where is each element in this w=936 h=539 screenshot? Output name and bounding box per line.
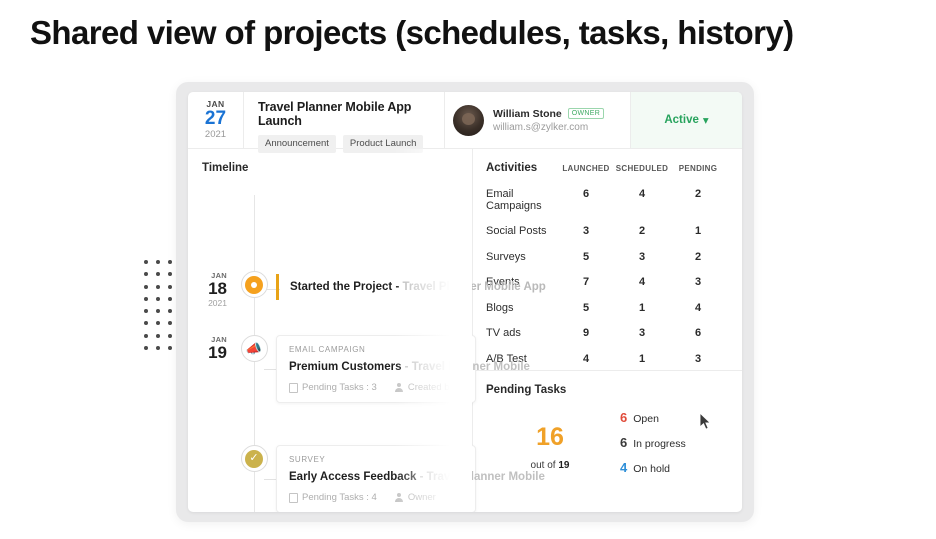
legend-count-on-hold: 4 [620, 460, 627, 475]
timeline-entry-subtitle: Travel Planner Mobile App [402, 281, 545, 293]
header-date: JAN 27 2021 [188, 92, 244, 148]
activity-scheduled: 3 [614, 327, 670, 339]
timeline-entry-creator: Created by [395, 382, 454, 393]
project-card: JAN 27 2021 Travel Planner Mobile App La… [188, 92, 742, 512]
activities-heading: Activities [486, 162, 558, 174]
timeline-entry-pending-tasks: Pending Tasks : 3 [289, 382, 377, 393]
activity-pending: 6 [670, 327, 726, 339]
timeline-entry-title: Started the Project - [290, 281, 402, 293]
activity-scheduled: 2 [614, 225, 670, 237]
timeline-item[interactable]: JAN 18 2021 Started the Project - [188, 271, 472, 308]
header-main: Travel Planner Mobile App Launch Announc… [244, 92, 444, 148]
user-icon [395, 493, 404, 503]
timeline-item[interactable]: ✓ SURVEY Early Access Feedback - Travel … [188, 445, 472, 512]
activity-launched: 5 [558, 251, 614, 263]
timeline-entry-title: Premium Customers [289, 361, 401, 373]
table-row[interactable]: Surveys 5 3 2 [486, 251, 726, 263]
legend-count-in-progress: 6 [620, 435, 627, 450]
owner-badge: OWNER [568, 108, 604, 119]
timeline-entry-kicker: EMAIL CAMPAIGN [289, 345, 475, 354]
chevron-down-icon: ▾ [703, 113, 709, 127]
activity-label: Email Campaigns [486, 188, 558, 212]
timeline-item-date: JAN 18 2021 [188, 271, 232, 308]
page-title: Shared view of projects (schedules, task… [30, 14, 794, 52]
timeline-item-date [188, 445, 232, 512]
timeline-item[interactable]: JAN 19 📣 EMAIL CAMPAIGN Premium [188, 335, 472, 403]
timeline-entry-kicker: SURVEY [289, 455, 475, 464]
activity-launched: 6 [558, 188, 614, 200]
user-icon [395, 383, 404, 393]
mouse-cursor-icon [699, 412, 712, 431]
activity-pending: 3 [670, 276, 726, 288]
card-header: JAN 27 2021 Travel Planner Mobile App La… [188, 92, 742, 149]
dot-grid-decoration [140, 256, 176, 354]
table-row[interactable]: Social Posts 3 2 1 [486, 225, 726, 237]
document-icon [289, 493, 298, 503]
timeline-entry-card[interactable]: SURVEY Early Access Feedback - Travel Pl… [276, 445, 476, 512]
owner-name: William Stone [493, 108, 562, 120]
check-circle-icon: ✓ [241, 445, 268, 472]
timeline-node [232, 271, 276, 308]
legend-label-on-hold: On hold [633, 463, 670, 475]
legend-label-open: Open [633, 413, 659, 425]
activity-pending: 3 [670, 353, 726, 365]
project-title: Travel Planner Mobile App Launch [258, 100, 444, 128]
timeline-panel: Timeline JAN 18 2021 [188, 149, 473, 512]
activity-pending: 4 [670, 302, 726, 314]
timeline-item-content: SURVEY Early Access Feedback - Travel Pl… [276, 445, 472, 512]
activity-pending: 2 [670, 188, 726, 200]
activity-scheduled: 1 [614, 302, 670, 314]
timeline-item-content: EMAIL CAMPAIGN Premium Customers - Trave… [276, 335, 472, 403]
timeline-date-day: 18 [188, 280, 227, 298]
timeline-entry-pending-tasks: Pending Tasks : 4 [289, 492, 377, 503]
timeline-entry-card[interactable]: EMAIL CAMPAIGN Premium Customers - Trave… [276, 335, 476, 403]
column-header-pending: PENDING [670, 164, 726, 173]
legend-count-open: 6 [620, 410, 627, 425]
legend-item-in-progress[interactable]: 6 In progress [620, 435, 726, 450]
out-of-label: out of [531, 460, 559, 471]
table-row[interactable]: TV ads 9 3 6 [486, 327, 726, 339]
activity-scheduled: 1 [614, 353, 670, 365]
table-row[interactable]: Email Campaigns 6 4 2 [486, 188, 726, 212]
activities-header-row: Activities LAUNCHED SCHEDULED PENDING [486, 162, 726, 174]
card-body: Timeline JAN 18 2021 [188, 149, 742, 512]
header-date-year: 2021 [205, 129, 226, 141]
page-root: Shared view of projects (schedules, task… [0, 0, 936, 539]
activity-launched: 9 [558, 327, 614, 339]
table-row[interactable]: Blogs 5 1 4 [486, 302, 726, 314]
activity-pending: 2 [670, 251, 726, 263]
timeline-entry-title: Early Access Feedback [289, 471, 416, 483]
activity-label: Social Posts [486, 225, 558, 237]
megaphone-icon: 📣 [241, 335, 268, 362]
timeline-entry-creator: Owner [395, 492, 436, 503]
timeline-date-day: 19 [188, 344, 227, 362]
pending-tasks-panel: Pending Tasks 16 out of 19 6 Open [473, 371, 742, 512]
pending-tasks-summary: 16 out of 19 [486, 425, 614, 471]
activities-panel: Activities LAUNCHED SCHEDULED PENDING Em… [473, 149, 742, 371]
timeline-node: ✓ [232, 445, 276, 512]
pending-tasks-heading: Pending Tasks [486, 384, 726, 396]
column-header-launched: LAUNCHED [558, 164, 614, 173]
avatar [453, 105, 484, 136]
activity-scheduled: 4 [614, 276, 670, 288]
status-dropdown[interactable]: Active ▾ [630, 92, 742, 148]
header-date-day: 27 [205, 109, 226, 129]
timeline-date-year: 2021 [188, 298, 227, 308]
out-of-value: 19 [558, 460, 569, 471]
document-icon [289, 383, 298, 393]
activity-pending: 1 [670, 225, 726, 237]
activity-label: Surveys [486, 251, 558, 263]
timeline-entry-flat[interactable]: Started the Project - Travel Planner Mob… [276, 274, 472, 300]
owner-block[interactable]: William Stone OWNER william.s@zylker.com [444, 92, 630, 148]
activity-launched: 7 [558, 276, 614, 288]
owner-email: william.s@zylker.com [493, 122, 604, 133]
right-column: Activities LAUNCHED SCHEDULED PENDING Em… [473, 149, 742, 512]
orange-dot-icon [241, 271, 268, 298]
timeline-heading: Timeline [188, 149, 472, 174]
status-label: Active [664, 114, 699, 126]
timeline-node: 📣 [232, 335, 276, 403]
activity-launched: 4 [558, 353, 614, 365]
legend-label-in-progress: In progress [633, 438, 686, 450]
timeline-item-content: Started the Project - Travel Planner Mob… [276, 271, 472, 308]
activity-label: TV ads [486, 327, 558, 339]
activity-launched: 5 [558, 302, 614, 314]
activity-scheduled: 3 [614, 251, 670, 263]
timeline-item-date: JAN 19 [188, 335, 232, 403]
activity-scheduled: 4 [614, 188, 670, 200]
pending-tasks-total: out of 19 [486, 460, 614, 471]
pending-tasks-count: 16 [486, 425, 614, 450]
activity-launched: 3 [558, 225, 614, 237]
column-header-scheduled: SCHEDULED [614, 164, 670, 173]
activity-label: Blogs [486, 302, 558, 314]
legend-item-on-hold[interactable]: 4 On hold [620, 460, 726, 475]
